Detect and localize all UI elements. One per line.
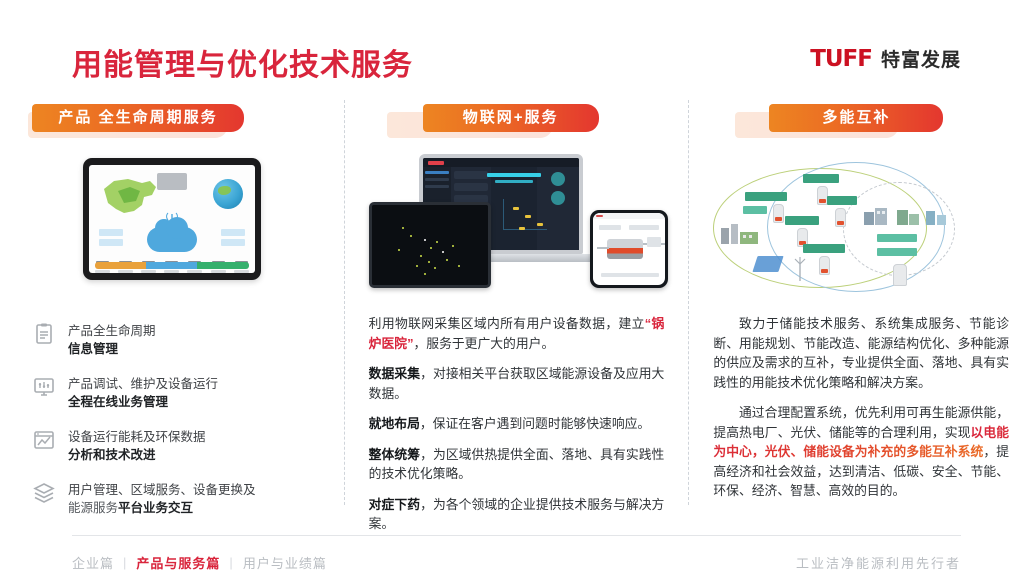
layers-icon <box>32 481 56 505</box>
list-item-line2-thin: 能源服务 <box>68 501 118 515</box>
paragraph-post: ，服务于更广大的用户。 <box>413 336 554 351</box>
diagram-ellipse-inner <box>843 182 955 276</box>
power-plant-icon <box>719 218 761 246</box>
service-list: 产品全生命周期 信息管理 <box>24 322 320 517</box>
paragraph-lead: 整体统筹 <box>369 447 420 462</box>
phone-device <box>590 210 668 288</box>
list-item-line2: 信息管理 <box>68 342 118 356</box>
dashboard-flow-diagram <box>497 189 531 245</box>
list-item: 产品全生命周期 信息管理 <box>24 322 320 358</box>
gauge-icon <box>551 191 565 205</box>
column-3-content: 致力于储能技术服务、系统集成服务、节能诊断、用能规划、节能改造、能源结构优化、多… <box>707 302 1015 501</box>
footer-nav: 企业篇 | 产品与服务篇 | 用户与业绩篇 <box>72 553 327 572</box>
page-title: 用能管理与优化技术服务 <box>72 40 413 84</box>
column-multi-energy: 多能互补 <box>688 100 1033 505</box>
dashboard-main-panel <box>491 167 537 250</box>
slide-footer: 企业篇 | 产品与服务篇 | 用户与业绩篇 工业洁净能源利用先行者 <box>0 529 1033 587</box>
paragraph-pre: 利用物联网采集区域内所有用户设备数据，建立 <box>369 316 645 331</box>
brand-logo: TUFF 特富发展 <box>810 45 961 72</box>
factory-building-icon <box>863 206 889 226</box>
phone-label-chip <box>629 225 659 230</box>
paragraph: 数据采集，对接相关平台获取区域能源设备及应用大数据。 <box>369 364 665 403</box>
chart-window-icon <box>32 428 56 452</box>
pipe-line <box>597 247 609 249</box>
china-map-icon <box>98 175 160 219</box>
list-item-text: 设备运行能耗及环保数据 分析和技术改进 <box>68 428 206 464</box>
monitor-settings-icon <box>32 375 56 399</box>
tag-chip <box>221 239 245 246</box>
paragraph-lead: 数据采集 <box>369 366 420 381</box>
dashboard-logo-icon <box>428 161 444 165</box>
diagram-node-label <box>785 216 819 225</box>
phone-module-box <box>647 237 661 247</box>
column-2-content: 利用物联网采集区域内所有用户设备数据，建立“锅炉医院”，服务于更广大的用户。 数… <box>363 302 671 534</box>
list-item-line1: 产品调试、维护及设备运行 <box>68 377 218 391</box>
footer-nav-item-customers[interactable]: 用户与业绩篇 <box>243 553 327 572</box>
footer-slogan: 工业洁净能源利用先行者 <box>796 553 961 572</box>
diagram-node-label <box>803 174 839 183</box>
brand-chinese-name: 特富发展 <box>881 45 961 72</box>
column-banner-1: 产品 全生命周期服务 <box>32 104 244 132</box>
list-item: 设备运行能耗及环保数据 分析和技术改进 <box>24 428 320 464</box>
media-tablet-cloud <box>18 152 326 302</box>
globe-icon <box>213 179 243 209</box>
footer-nav-separator: | <box>229 555 233 570</box>
device-mockup-group <box>363 152 671 300</box>
paragraph-lead: 就地布局 <box>369 416 420 431</box>
laptop-topbar <box>423 158 579 167</box>
boiler-diagram-icon <box>607 239 643 259</box>
tag-chip <box>99 239 123 246</box>
list-item-line1: 设备运行能耗及环保数据 <box>68 430 206 444</box>
map-visualization <box>372 205 488 285</box>
energy-network-diagram <box>707 152 1015 300</box>
phone-screen <box>593 213 665 285</box>
tablet-device <box>83 158 261 280</box>
paragraph-lead: 对症下药 <box>369 497 420 512</box>
meter-icon <box>835 208 846 227</box>
list-item: 产品调试、维护及设备运行 全程在线业务管理 <box>24 375 320 411</box>
cloud-service-icon <box>147 227 197 252</box>
banner-wrap-3: 多能互补 <box>707 100 1015 146</box>
paragraph-pre: 通过合理配置系统，优先利用可再生能源供能，提高热电厂、光伏、储能等的合理利用，实… <box>713 405 1009 440</box>
slide-header: 用能管理与优化技术服务 TUFF 特富发展 <box>0 0 1033 95</box>
gauge-icon <box>551 172 565 186</box>
brand-mark-text: TUFF <box>810 46 872 72</box>
tag-chip <box>99 229 123 236</box>
tablet-screen <box>89 165 255 273</box>
list-item-text: 用户管理、区域服务、设备更换及 能源服务平台业务交互 <box>68 481 256 517</box>
phase-bar <box>95 262 249 269</box>
paragraph-rest: ，保证在客户遇到问题时能够快速响应。 <box>420 416 650 431</box>
banner-wrap-1: 产品 全生命周期服务 <box>18 100 326 146</box>
paragraph: 整体统筹，为区域供热提供全面、落地、具有实践性的技术优化策略。 <box>369 445 665 484</box>
phone-label-chip <box>599 225 621 230</box>
diagram-node-label <box>803 244 845 253</box>
list-item-line2: 全程在线业务管理 <box>68 395 168 409</box>
list-item: 用户管理、区域服务、设备更换及 能源服务平台业务交互 <box>24 481 320 517</box>
paragraph: 对症下药，为各个领域的企业提供技术服务与解决方案。 <box>369 495 665 534</box>
banner-wrap-2: 物联网+服务 <box>363 100 671 146</box>
phone-footer-chip <box>601 273 659 277</box>
meter-icon <box>819 256 830 275</box>
tag-chip <box>221 229 245 236</box>
footer-nav-item-products[interactable]: 产品与服务篇 <box>136 553 220 572</box>
paragraph: 通过合理配置系统，优先利用可再生能源供能，提高热电厂、光伏、储能等的合理利用，实… <box>713 403 1009 501</box>
footer-nav-item-enterprise[interactable]: 企业篇 <box>72 553 114 572</box>
wind-turbine-icon <box>793 256 807 282</box>
slide-root: 用能管理与优化技术服务 TUFF 特富发展 产品 全生命周期服务 <box>0 0 1033 587</box>
paragraph: 致力于储能技术服务、系统集成服务、节能诊断、用能规划、节能改造、能源结构优化、多… <box>713 314 1009 392</box>
diagram-node-label <box>877 248 917 256</box>
columns-container: 产品 全生命周期服务 <box>0 100 1033 505</box>
media-devices <box>363 152 671 302</box>
column-banner-2: 物联网+服务 <box>423 104 599 132</box>
storage-icon <box>893 264 907 286</box>
footer-divider <box>72 535 961 536</box>
diagram-node-label <box>877 234 917 242</box>
media-energy-network <box>707 152 1015 302</box>
list-item-line1: 用户管理、区域服务、设备更换及 <box>68 483 256 497</box>
paragraph: 利用物联网采集区域内所有用户设备数据，建立“锅炉医院”，服务于更广大的用户。 <box>369 314 665 353</box>
column-1-content: 产品全生命周期 信息管理 <box>18 302 326 517</box>
tablet-map-device <box>369 202 491 288</box>
meter-icon <box>773 204 784 223</box>
diagram-node-label <box>827 196 857 205</box>
commercial-building-icon <box>895 206 921 226</box>
server-box-icon <box>157 173 187 190</box>
paragraph: 就地布局，保证在客户遇到问题时能够快速响应。 <box>369 414 665 434</box>
dashboard-title-bar <box>487 173 541 177</box>
diagram-node-label <box>743 206 767 214</box>
list-item-text: 产品全生命周期 信息管理 <box>68 322 156 358</box>
list-item-line2: 分析和技术改进 <box>68 448 156 462</box>
list-item-line2: 平台业务交互 <box>118 501 193 515</box>
phone-topbar <box>593 213 665 219</box>
diagram-node-label <box>745 192 787 201</box>
residential-building-icon <box>923 206 949 226</box>
dashboard-subtitle-bar <box>495 180 533 183</box>
list-item-line1: 产品全生命周期 <box>68 324 156 338</box>
column-banner-3: 多能互补 <box>769 104 943 132</box>
column-iot-service: 物联网+服务 <box>344 100 689 505</box>
list-item-text: 产品调试、维护及设备运行 全程在线业务管理 <box>68 375 218 411</box>
clipboard-icon <box>32 322 56 346</box>
footer-nav-separator: | <box>123 555 127 570</box>
column-product-lifecycle: 产品 全生命周期服务 <box>0 100 344 505</box>
dashboard-gauge-panel <box>537 167 579 250</box>
